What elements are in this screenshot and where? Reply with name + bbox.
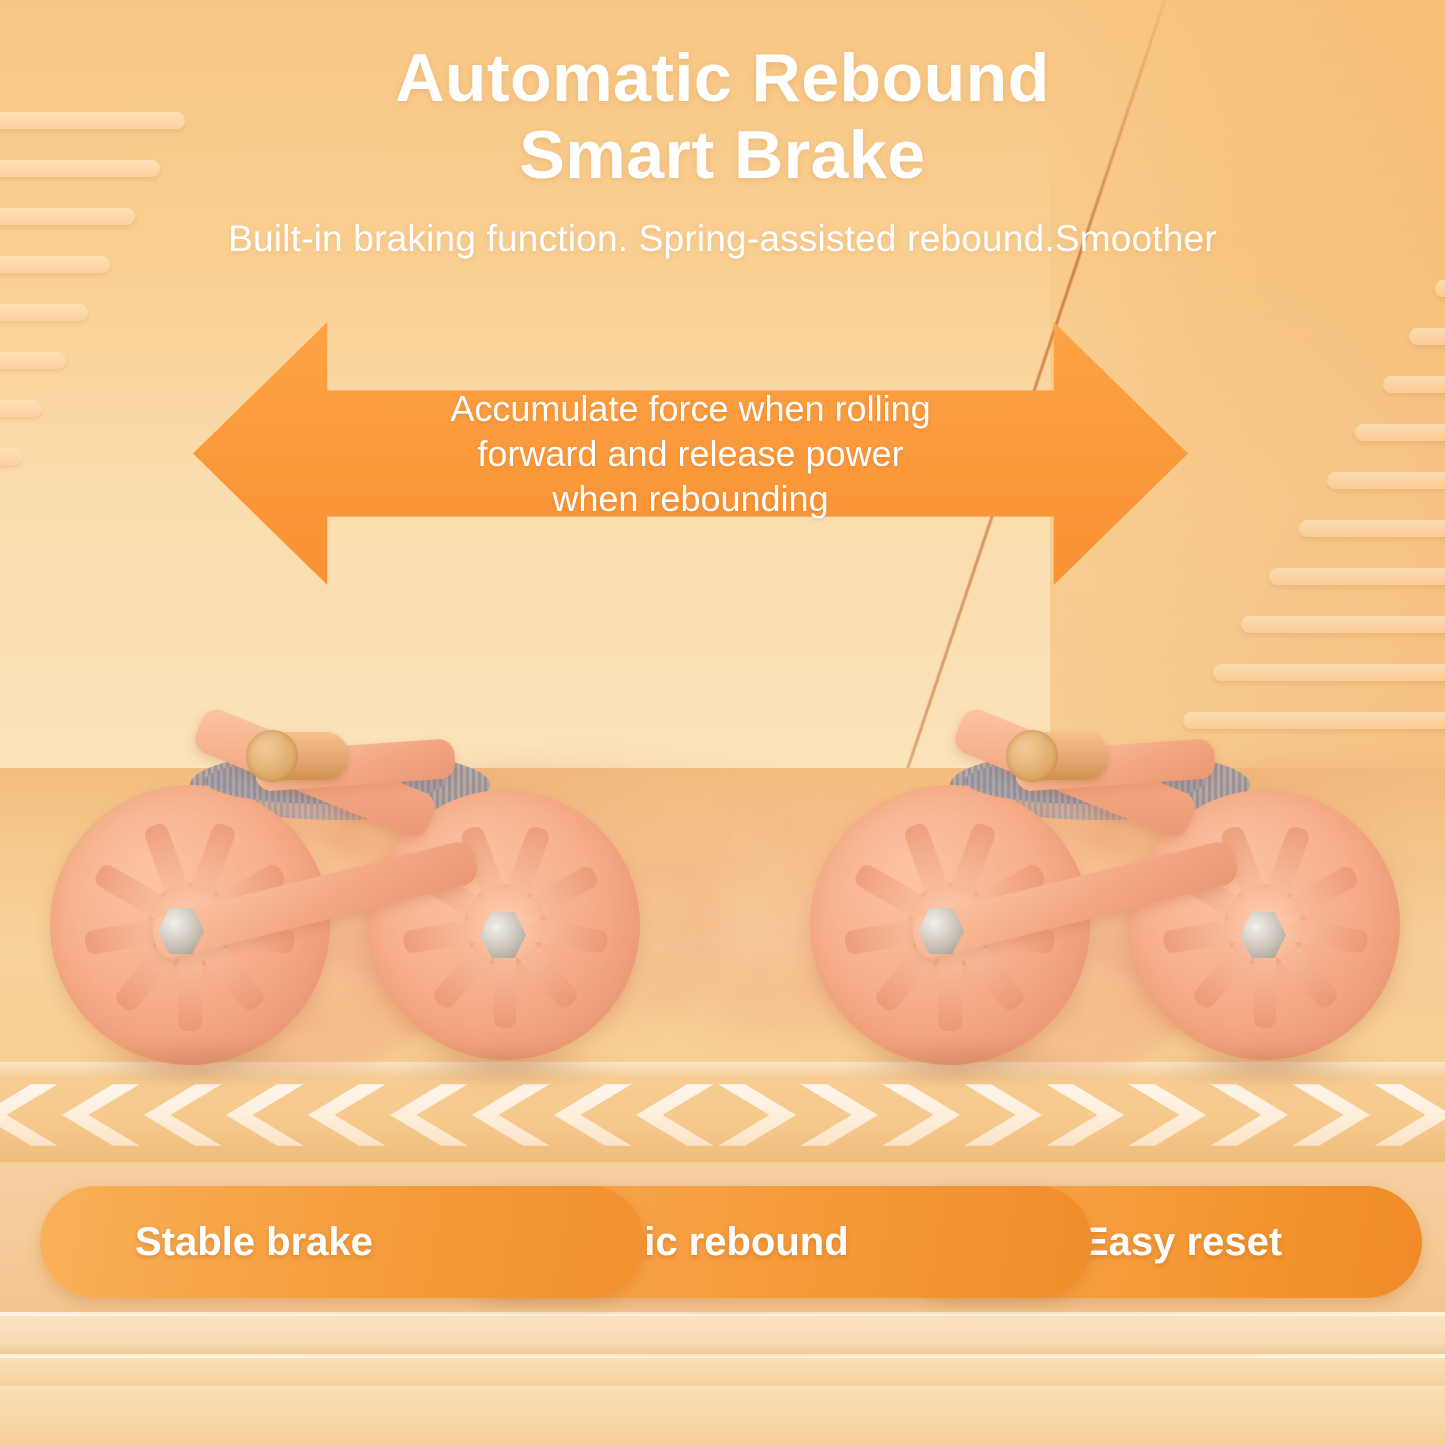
chevron-marker	[226, 1084, 304, 1146]
chevron-marker	[1374, 1084, 1445, 1146]
speed-bar	[1327, 472, 1445, 489]
speed-bar	[1383, 376, 1445, 393]
chevron-marker	[1210, 1084, 1288, 1146]
speed-bar	[1269, 568, 1445, 585]
feature-pill-label: Stable brake	[135, 1220, 373, 1265]
arrow-caption-line-3: when rebounding	[193, 476, 1188, 521]
contact-shadow	[80, 1040, 320, 1088]
speed-bar	[1435, 280, 1445, 297]
chevron-marker	[554, 1084, 632, 1146]
platform-highlight-2	[0, 1354, 1445, 1358]
speed-bar	[1299, 520, 1445, 537]
arrow-caption: Accumulate force when rolling forward an…	[193, 385, 1188, 521]
chevron-marker	[636, 1084, 714, 1146]
chevron-marker	[1046, 1084, 1124, 1146]
chevron-marker	[62, 1084, 140, 1146]
contact-shadow	[1150, 1044, 1380, 1090]
chevron-marker	[1292, 1084, 1370, 1146]
speed-bar	[1241, 616, 1445, 633]
speed-bar	[1409, 328, 1445, 345]
chevron-marker	[390, 1084, 468, 1146]
product-photo-group	[0, 640, 1445, 1080]
arrow-caption-line-2: forward and release power	[193, 431, 1188, 476]
chevron-marker	[308, 1084, 386, 1146]
platform-step-3	[0, 1356, 1445, 1386]
page-subtitle: Built-in braking function. Spring-assist…	[0, 218, 1445, 260]
title-line-1: Automatic Rebound	[0, 40, 1445, 117]
speed-bar	[0, 400, 42, 417]
page-title: Automatic Rebound Smart Brake	[0, 40, 1445, 194]
platform-step-2	[0, 1314, 1445, 1356]
feature-pill-stable-brake[interactable]: Stable brake	[40, 1186, 645, 1298]
handle-pin-cap	[246, 730, 298, 782]
chevron-direction-band	[0, 1076, 1445, 1162]
chevron-marker	[882, 1084, 960, 1146]
contact-shadow	[840, 1040, 1080, 1088]
chevron-marker	[0, 1084, 58, 1146]
chevron-marker	[964, 1084, 1042, 1146]
platform-highlight-1	[0, 1312, 1445, 1316]
speed-bar	[0, 448, 22, 465]
chevron-marker	[718, 1084, 796, 1146]
promo-graphic: Automatic Rebound Smart Brake Built-in b…	[0, 0, 1445, 1445]
chevron-marker	[800, 1084, 878, 1146]
chevron-marker	[472, 1084, 550, 1146]
contact-shadow	[390, 1044, 620, 1090]
title-line-2: Smart Brake	[0, 117, 1445, 194]
speed-bar	[0, 352, 66, 369]
speed-bar	[1355, 424, 1445, 441]
rebound-arrow-callout: Accumulate force when rolling forward an…	[193, 322, 1188, 585]
platform-step-4	[0, 1386, 1445, 1445]
feature-pill-label: Easy reset	[1082, 1220, 1282, 1265]
chevron-marker	[144, 1084, 222, 1146]
speed-bar	[0, 304, 88, 321]
chevron-marker	[1128, 1084, 1206, 1146]
arrow-caption-line-1: Accumulate force when rolling	[193, 385, 1188, 430]
handle-pin-cap	[1006, 730, 1058, 782]
